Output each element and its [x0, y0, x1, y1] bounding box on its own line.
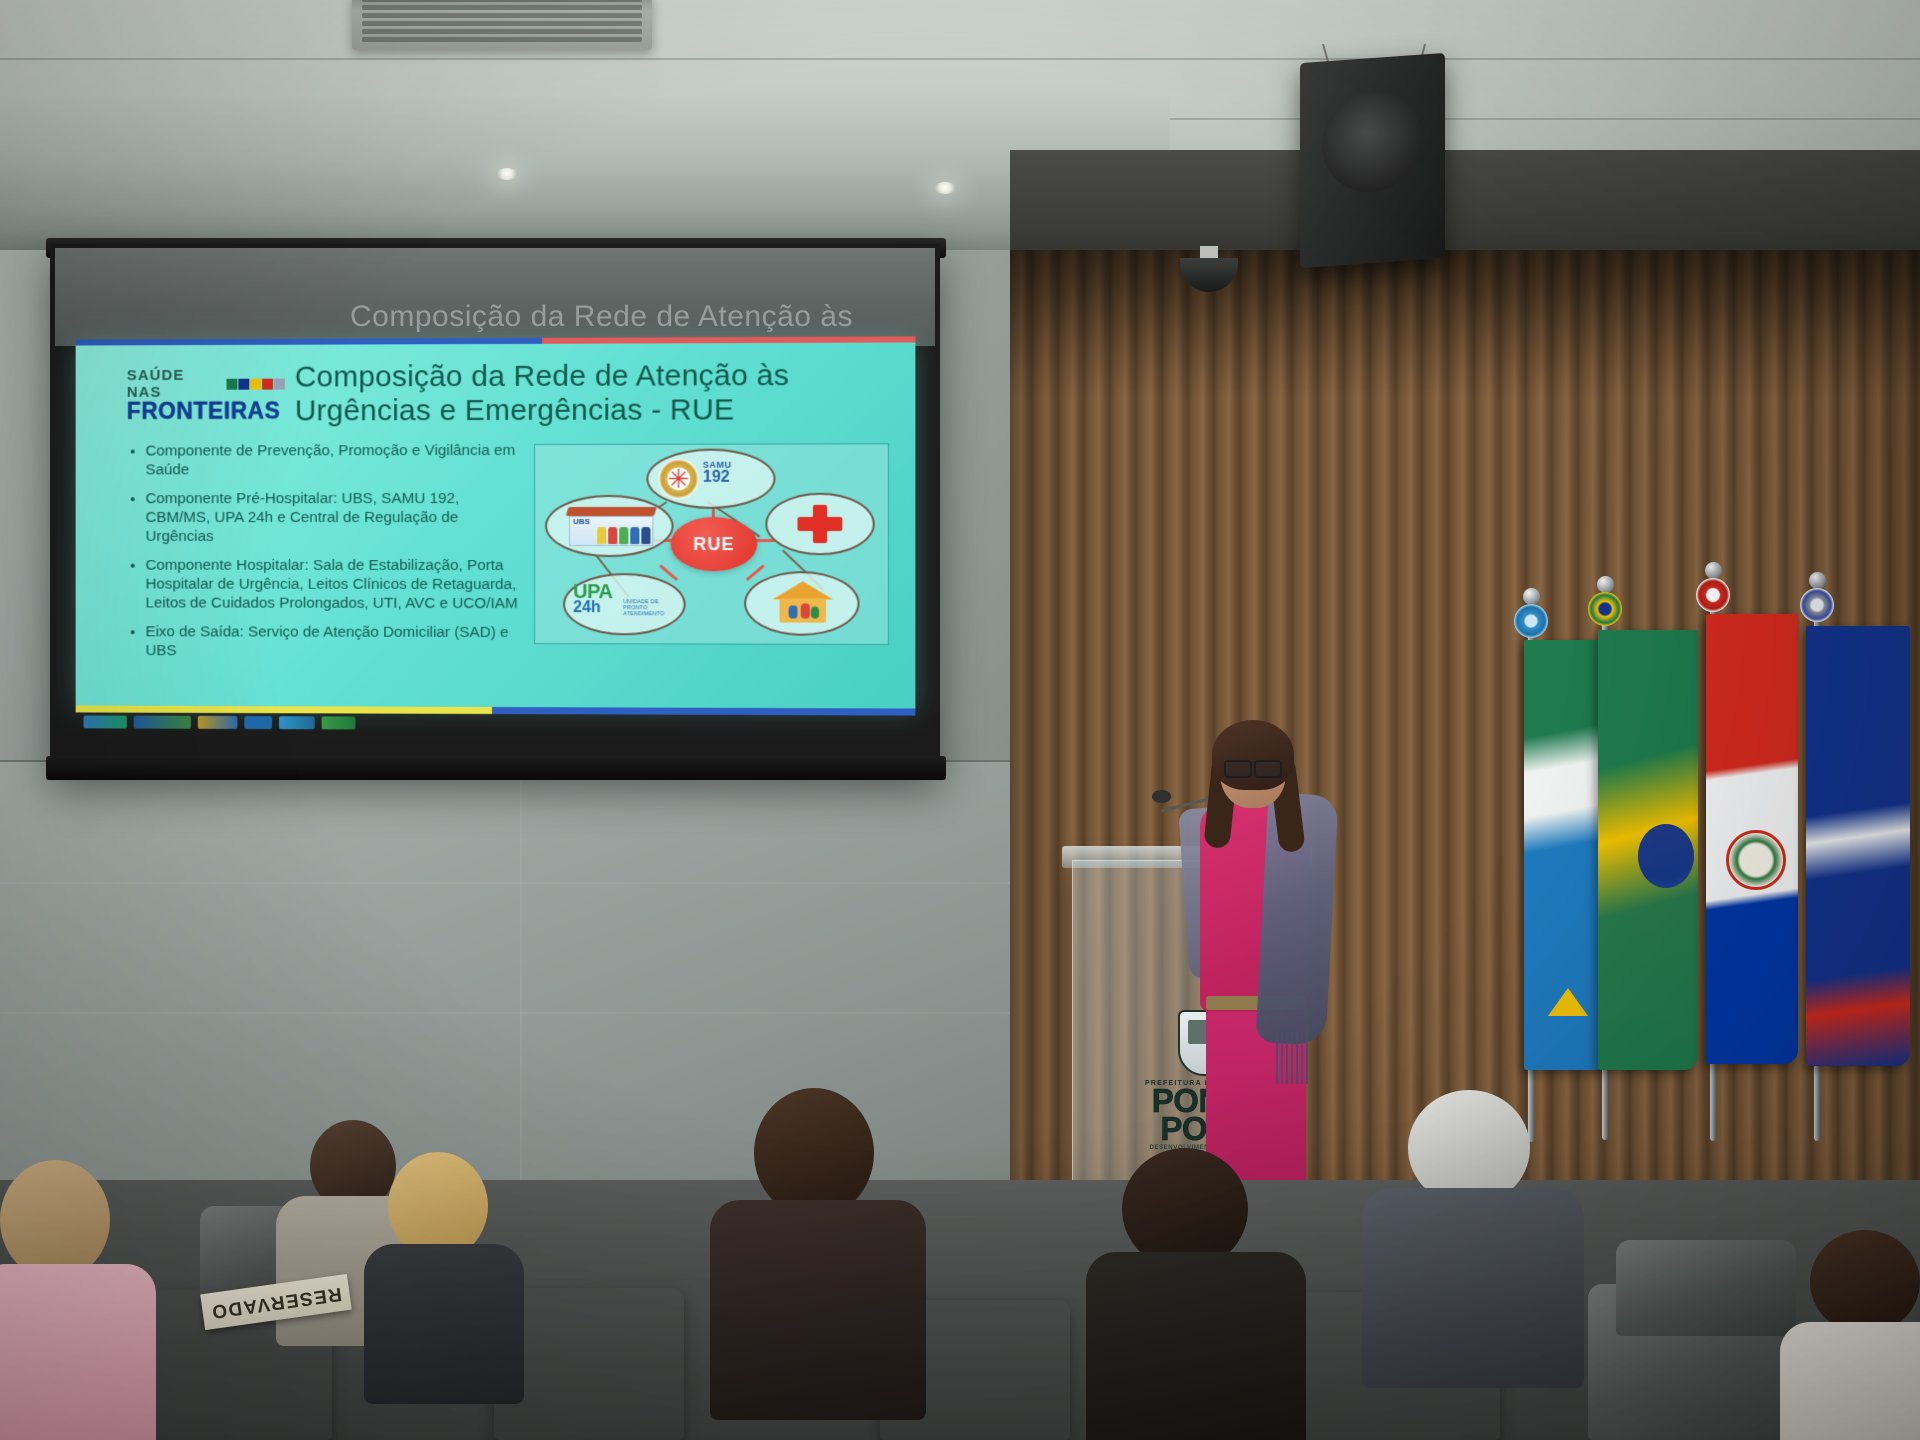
presenter-hair	[1212, 720, 1294, 790]
list-item: Componente Hospitalar: Sala de Estabiliz…	[146, 557, 524, 613]
arrow-rue-to-upa	[659, 564, 678, 581]
logo-conasems	[279, 716, 315, 729]
logo-parana	[198, 715, 238, 728]
ceiling-spotlight	[496, 168, 518, 180]
diagram-node-ubs: UBS	[545, 495, 674, 557]
slide-title: Composição da Rede de Atenção às Urgênci…	[295, 359, 897, 429]
slide-title-line-1: Composição da Rede de Atenção às	[295, 359, 897, 395]
logo-line-1: SAÚDE NAS	[127, 367, 223, 401]
list-item: Eixo de Saída: Serviço de Atenção Domici…	[146, 624, 524, 662]
audience-seat	[1616, 1240, 1796, 1336]
upa-24h-icon: UPA 24h	[573, 583, 612, 616]
home-care-icon	[772, 581, 833, 623]
list-item: Componente Pré-Hospitalar: UBS, SAMU 192…	[146, 490, 524, 546]
screen-bottom-bar	[46, 756, 946, 780]
rue-network-diagram: ✳ SAMU 192 UBS	[534, 443, 889, 645]
list-item: Componente de Prevenção, Promoção e Vigi…	[146, 442, 524, 480]
diagram-node-home-care	[744, 571, 859, 636]
gooseneck-microphone-icon	[1152, 790, 1171, 803]
flag-rosette-icon	[1514, 604, 1548, 638]
diagram-node-hospital	[765, 493, 874, 555]
arrow-rue-to-home	[746, 564, 765, 581]
flag-rosette-icon	[1588, 592, 1622, 626]
upa-sub-label: 24h	[573, 601, 612, 615]
audience-member	[1800, 1230, 1920, 1440]
ceiling-air-vent-icon	[352, 0, 652, 50]
audience-member	[374, 1152, 504, 1352]
slide-title-line-2: Urgências e Emergências - RUE	[295, 393, 897, 428]
audience-member	[0, 1160, 150, 1440]
ghost-projection-title: Composição da Rede de Atenção às	[350, 300, 870, 334]
diagram-footer-logos	[76, 710, 430, 733]
audience-member	[1378, 1090, 1558, 1330]
shawl-fringe	[1276, 1030, 1310, 1084]
eyeglasses-icon	[1224, 760, 1282, 774]
logo-sus	[244, 716, 272, 729]
wood-wall-shadow	[1010, 250, 1920, 400]
paraguay-seal-icon	[1726, 830, 1786, 890]
logo-line-2: FRONTEIRAS	[127, 401, 285, 423]
presentation-slide: SAÚDE NAS FRONTEIRAS Composição da Rede …	[76, 342, 916, 709]
red-cross-hospital-icon	[798, 505, 843, 543]
flag-cloth	[1806, 626, 1910, 1066]
ceiling-spotlight	[934, 182, 956, 194]
logo-flag-chips-icon	[227, 378, 285, 389]
audience-member	[714, 1088, 904, 1348]
logo-conass	[84, 715, 127, 728]
diagram-node-upa: UPA 24h UNIDADE DE PRONTO ATENDIMENTO	[563, 573, 686, 635]
diagram-center-rue: RUE	[671, 517, 758, 571]
flag-star-icon	[1548, 988, 1588, 1016]
diagram-node-samu: ✳ SAMU 192	[646, 449, 775, 509]
logo-opas	[322, 716, 356, 729]
wood-ceiling-band	[1010, 150, 1920, 260]
logo-ministerio-saude	[134, 715, 191, 728]
upa-caption: UNIDADE DE PRONTO ATENDIMENTO	[623, 599, 675, 617]
health-clinic-icon: UBS	[561, 507, 657, 545]
samu-star-of-life-icon: ✳	[658, 459, 698, 499]
auditorium-scene: Composição da Rede de Atenção às SAÚDE N…	[0, 0, 1920, 1440]
audience-member	[1096, 1148, 1286, 1388]
saude-nas-fronteiras-logo: SAÚDE NAS FRONTEIRAS	[127, 367, 285, 423]
ubs-label: UBS	[573, 517, 590, 526]
flag-brasil-globe-icon	[1638, 824, 1694, 888]
slide-bullet-list: Componente de Prevenção, Promoção e Vigi…	[127, 442, 524, 673]
flag-rosette-icon	[1696, 578, 1730, 612]
flag-rosette-icon	[1800, 588, 1834, 622]
ceiling-soffit-upper	[0, 96, 1170, 206]
samu-label: SAMU 192	[703, 461, 732, 486]
